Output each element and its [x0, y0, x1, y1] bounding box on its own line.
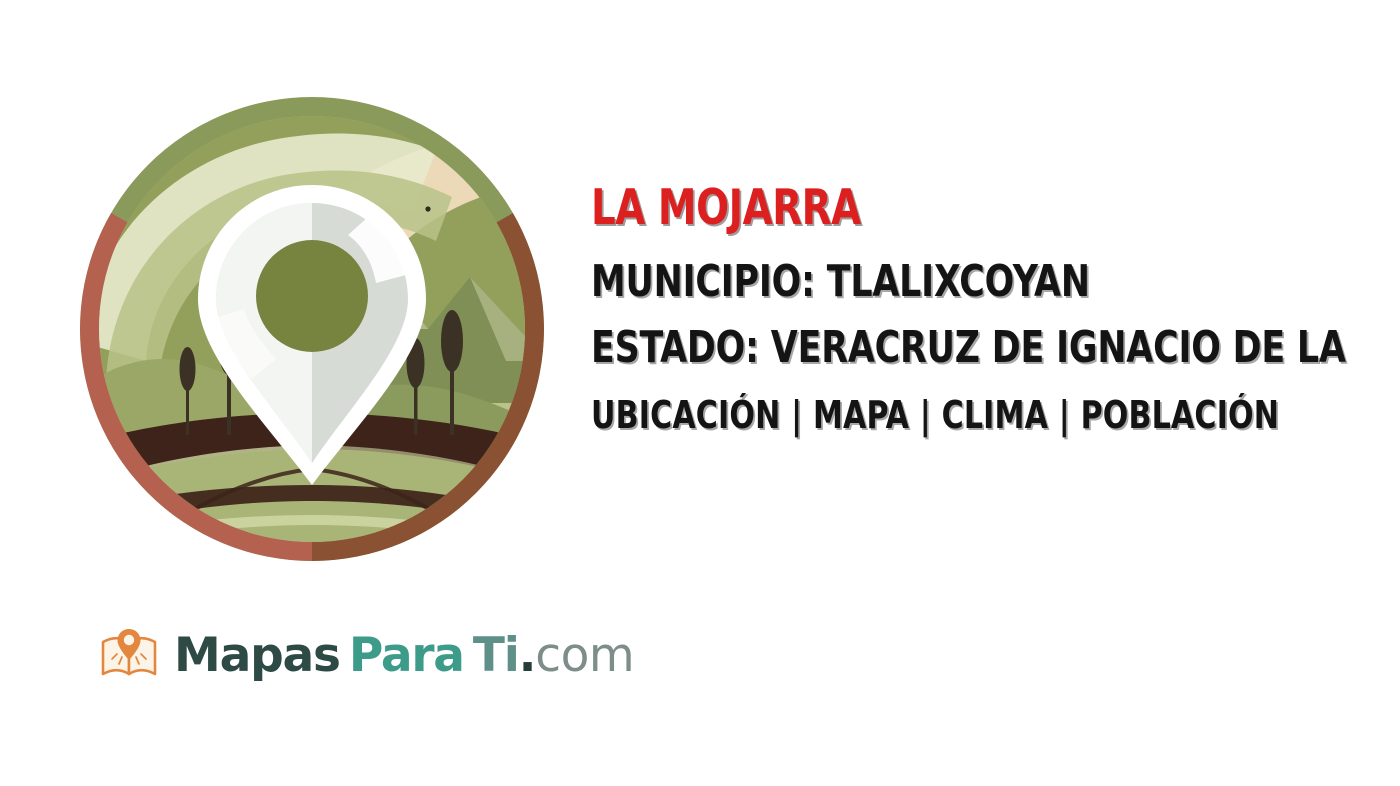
estado-line: ESTADO: VERACRUZ DE IGNACIO DE LA	[591, 322, 1321, 374]
open-book-pin-icon	[98, 624, 160, 686]
municipio-line: MUNICIPIO: TLALIXCOYAN	[591, 256, 1321, 308]
page-title: LA MOJARRA	[591, 180, 1321, 236]
brand-word-para: Para	[349, 632, 464, 679]
brand-word-dot: .	[519, 632, 536, 679]
pin-center-dot	[256, 240, 368, 352]
landscape-location-emblem	[76, 93, 548, 565]
brand-word-ti: Ti	[473, 632, 519, 679]
brand-lockup[interactable]: MapasParaTi.com	[98, 617, 634, 693]
section-links-line[interactable]: UBICACIÓN | MAPA | CLIMA | POBLACIÓN	[591, 392, 1321, 438]
location-info-block: LA MOJARRA MUNICIPIO: TLALIXCOYAN ESTADO…	[591, 180, 1400, 438]
bird-speck	[425, 206, 430, 211]
brand-word-mapas: Mapas	[174, 632, 340, 679]
poster-canvas: MapasParaTi.com LA MOJARRA MUNICIPIO: TL…	[0, 0, 1400, 786]
brand-word-com: com	[535, 632, 634, 679]
brand-wordmark: MapasParaTi.com	[174, 632, 634, 679]
